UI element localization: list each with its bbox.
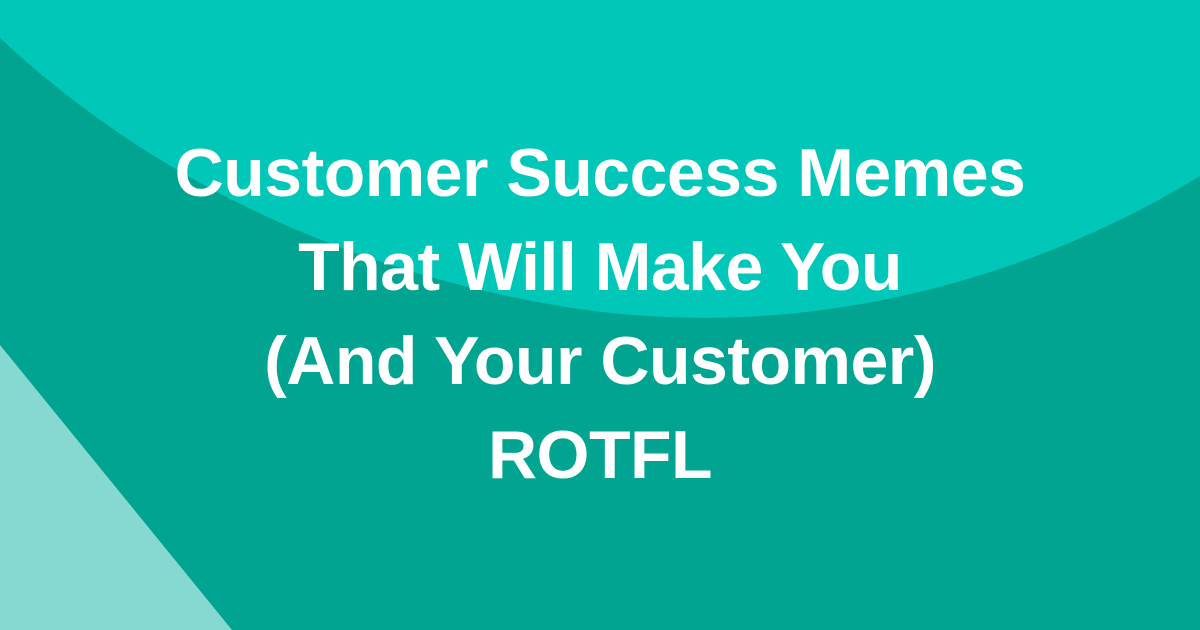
headline-line-3: (And Your Customer) xyxy=(264,315,936,409)
social-card-canvas: Customer Success Memes That Will Make Yo… xyxy=(0,0,1200,630)
headline-line-2: That Will Make You xyxy=(298,221,902,315)
headline-line-4: ROTFL xyxy=(488,409,712,503)
headline-line-1: Customer Success Memes xyxy=(175,127,1026,221)
headline-block: Customer Success Memes That Will Make Yo… xyxy=(0,0,1200,630)
